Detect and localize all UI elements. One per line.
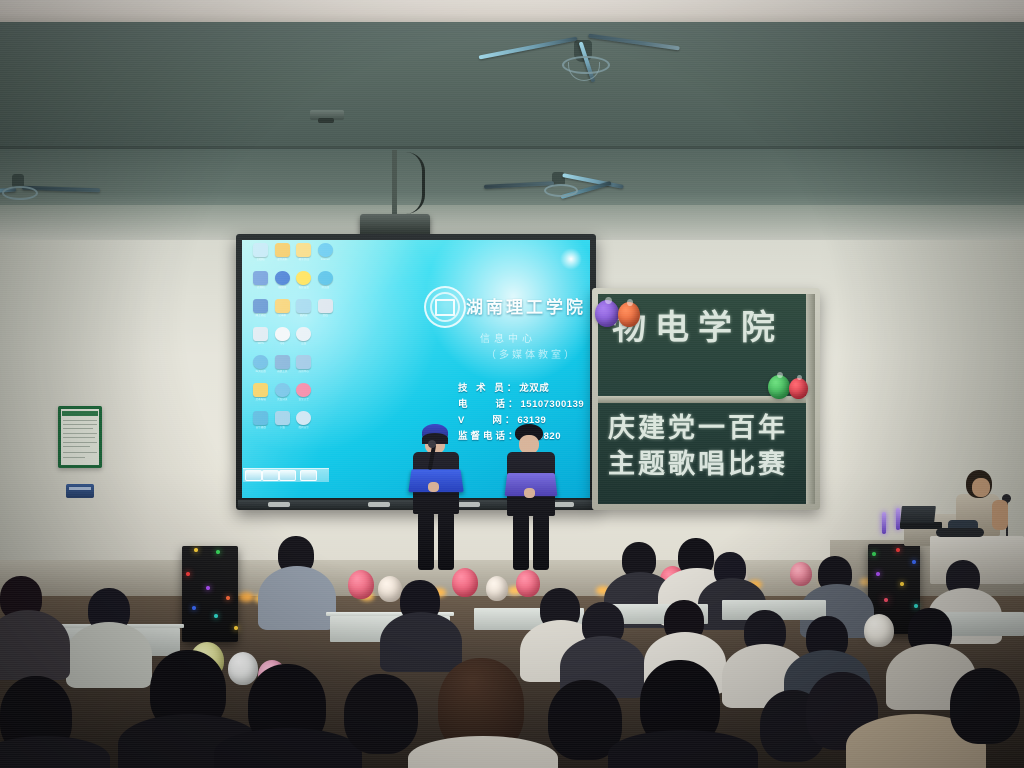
ceiling-fixture-lens	[318, 118, 334, 123]
host-legs	[438, 512, 454, 570]
ceiling-fan-right	[488, 168, 658, 208]
fairy-light	[214, 614, 218, 618]
floor-balloon	[864, 614, 894, 647]
pen-tray-nub	[368, 502, 390, 507]
pen-tray-nub	[268, 502, 290, 507]
host-hand	[524, 488, 535, 498]
fan-blade	[484, 181, 554, 189]
stage-balloon	[452, 568, 478, 597]
fan-ring	[2, 186, 38, 200]
explorer-button[interactable]	[279, 470, 296, 481]
fairy-light	[206, 586, 210, 590]
fairy-light	[872, 552, 876, 556]
fairy-light	[226, 596, 230, 600]
stage-balloon	[378, 576, 402, 602]
balloon-purple	[595, 300, 619, 327]
audience-shoulders	[380, 612, 462, 672]
notice-text-line	[63, 437, 95, 438]
notice-text-line	[63, 428, 93, 429]
fairy-light	[884, 598, 888, 602]
stage-balloon	[516, 570, 540, 597]
student-desk	[940, 612, 1024, 636]
notice-text-line	[63, 457, 85, 458]
fan-ring	[544, 184, 578, 197]
stage-balloon	[348, 570, 374, 599]
balloon-orange	[618, 302, 640, 327]
fairy-light	[194, 548, 198, 552]
blackboard-slide-track	[806, 294, 815, 504]
audience-head	[950, 668, 1020, 744]
browser-button[interactable]	[262, 470, 279, 481]
speaker-left	[182, 546, 238, 642]
balloon-red	[789, 378, 808, 399]
fan-cage	[568, 62, 600, 81]
fairy-light	[192, 606, 196, 610]
fan-blade	[588, 34, 680, 51]
wall-info-plate-text	[69, 487, 91, 490]
ceiling-fan-left	[0, 172, 120, 208]
microphone-head	[428, 440, 436, 448]
fairy-light	[914, 604, 918, 608]
notice-text-line	[63, 442, 97, 443]
fairy-light	[234, 626, 238, 630]
fairy-light	[186, 572, 190, 576]
lecture-hall-photo: 回收站 课件资料 教学文档 Internet 计算机 播放器 投影设置 浏览器 …	[0, 0, 1024, 768]
fairy-light	[912, 560, 916, 564]
host-hand	[428, 482, 439, 492]
string-light	[238, 592, 254, 602]
host-legs	[533, 514, 549, 570]
notice-text-line	[63, 433, 97, 434]
projector-mount-rod	[392, 150, 397, 216]
stage-balloon	[486, 576, 508, 601]
notice-text-line	[63, 446, 90, 447]
fairy-light	[900, 582, 904, 586]
fairy-light	[896, 548, 900, 552]
host-left	[404, 424, 474, 570]
wall-shading-left	[0, 240, 150, 570]
host-legs	[418, 512, 434, 570]
ceiling-beam	[0, 0, 1024, 22]
projector-cable	[406, 152, 425, 214]
audience-shoulders	[66, 622, 152, 688]
notice-text-line	[63, 420, 97, 421]
notify-button[interactable]	[300, 470, 317, 481]
floor-balloon	[228, 652, 258, 685]
stage-operator-arm	[992, 500, 1008, 530]
balloon-green	[768, 375, 790, 399]
fairy-light	[876, 572, 880, 576]
host-legs	[513, 514, 529, 570]
stage-balloon	[790, 562, 812, 586]
notice-text-line	[63, 424, 97, 425]
audience-shoulders	[258, 566, 336, 630]
fairy-light	[216, 550, 220, 554]
blackboard-line-1: 庆建党一百年	[608, 406, 788, 445]
blackboard-line-2: 主题歌唱比赛	[608, 442, 788, 481]
notice-text-line	[63, 452, 97, 453]
audience-head	[344, 674, 418, 754]
laptop-base[interactable]	[900, 522, 942, 529]
laptop-screen[interactable]	[900, 506, 936, 523]
ceiling	[0, 22, 1024, 150]
stage-operator-face	[972, 478, 990, 497]
host-right	[498, 424, 568, 570]
cable-bundle	[936, 528, 984, 537]
wall-notice-header	[62, 411, 98, 416]
ceiling-fan-center	[540, 28, 740, 88]
stage-led-bar	[882, 512, 886, 534]
start-button[interactable]	[245, 470, 262, 481]
